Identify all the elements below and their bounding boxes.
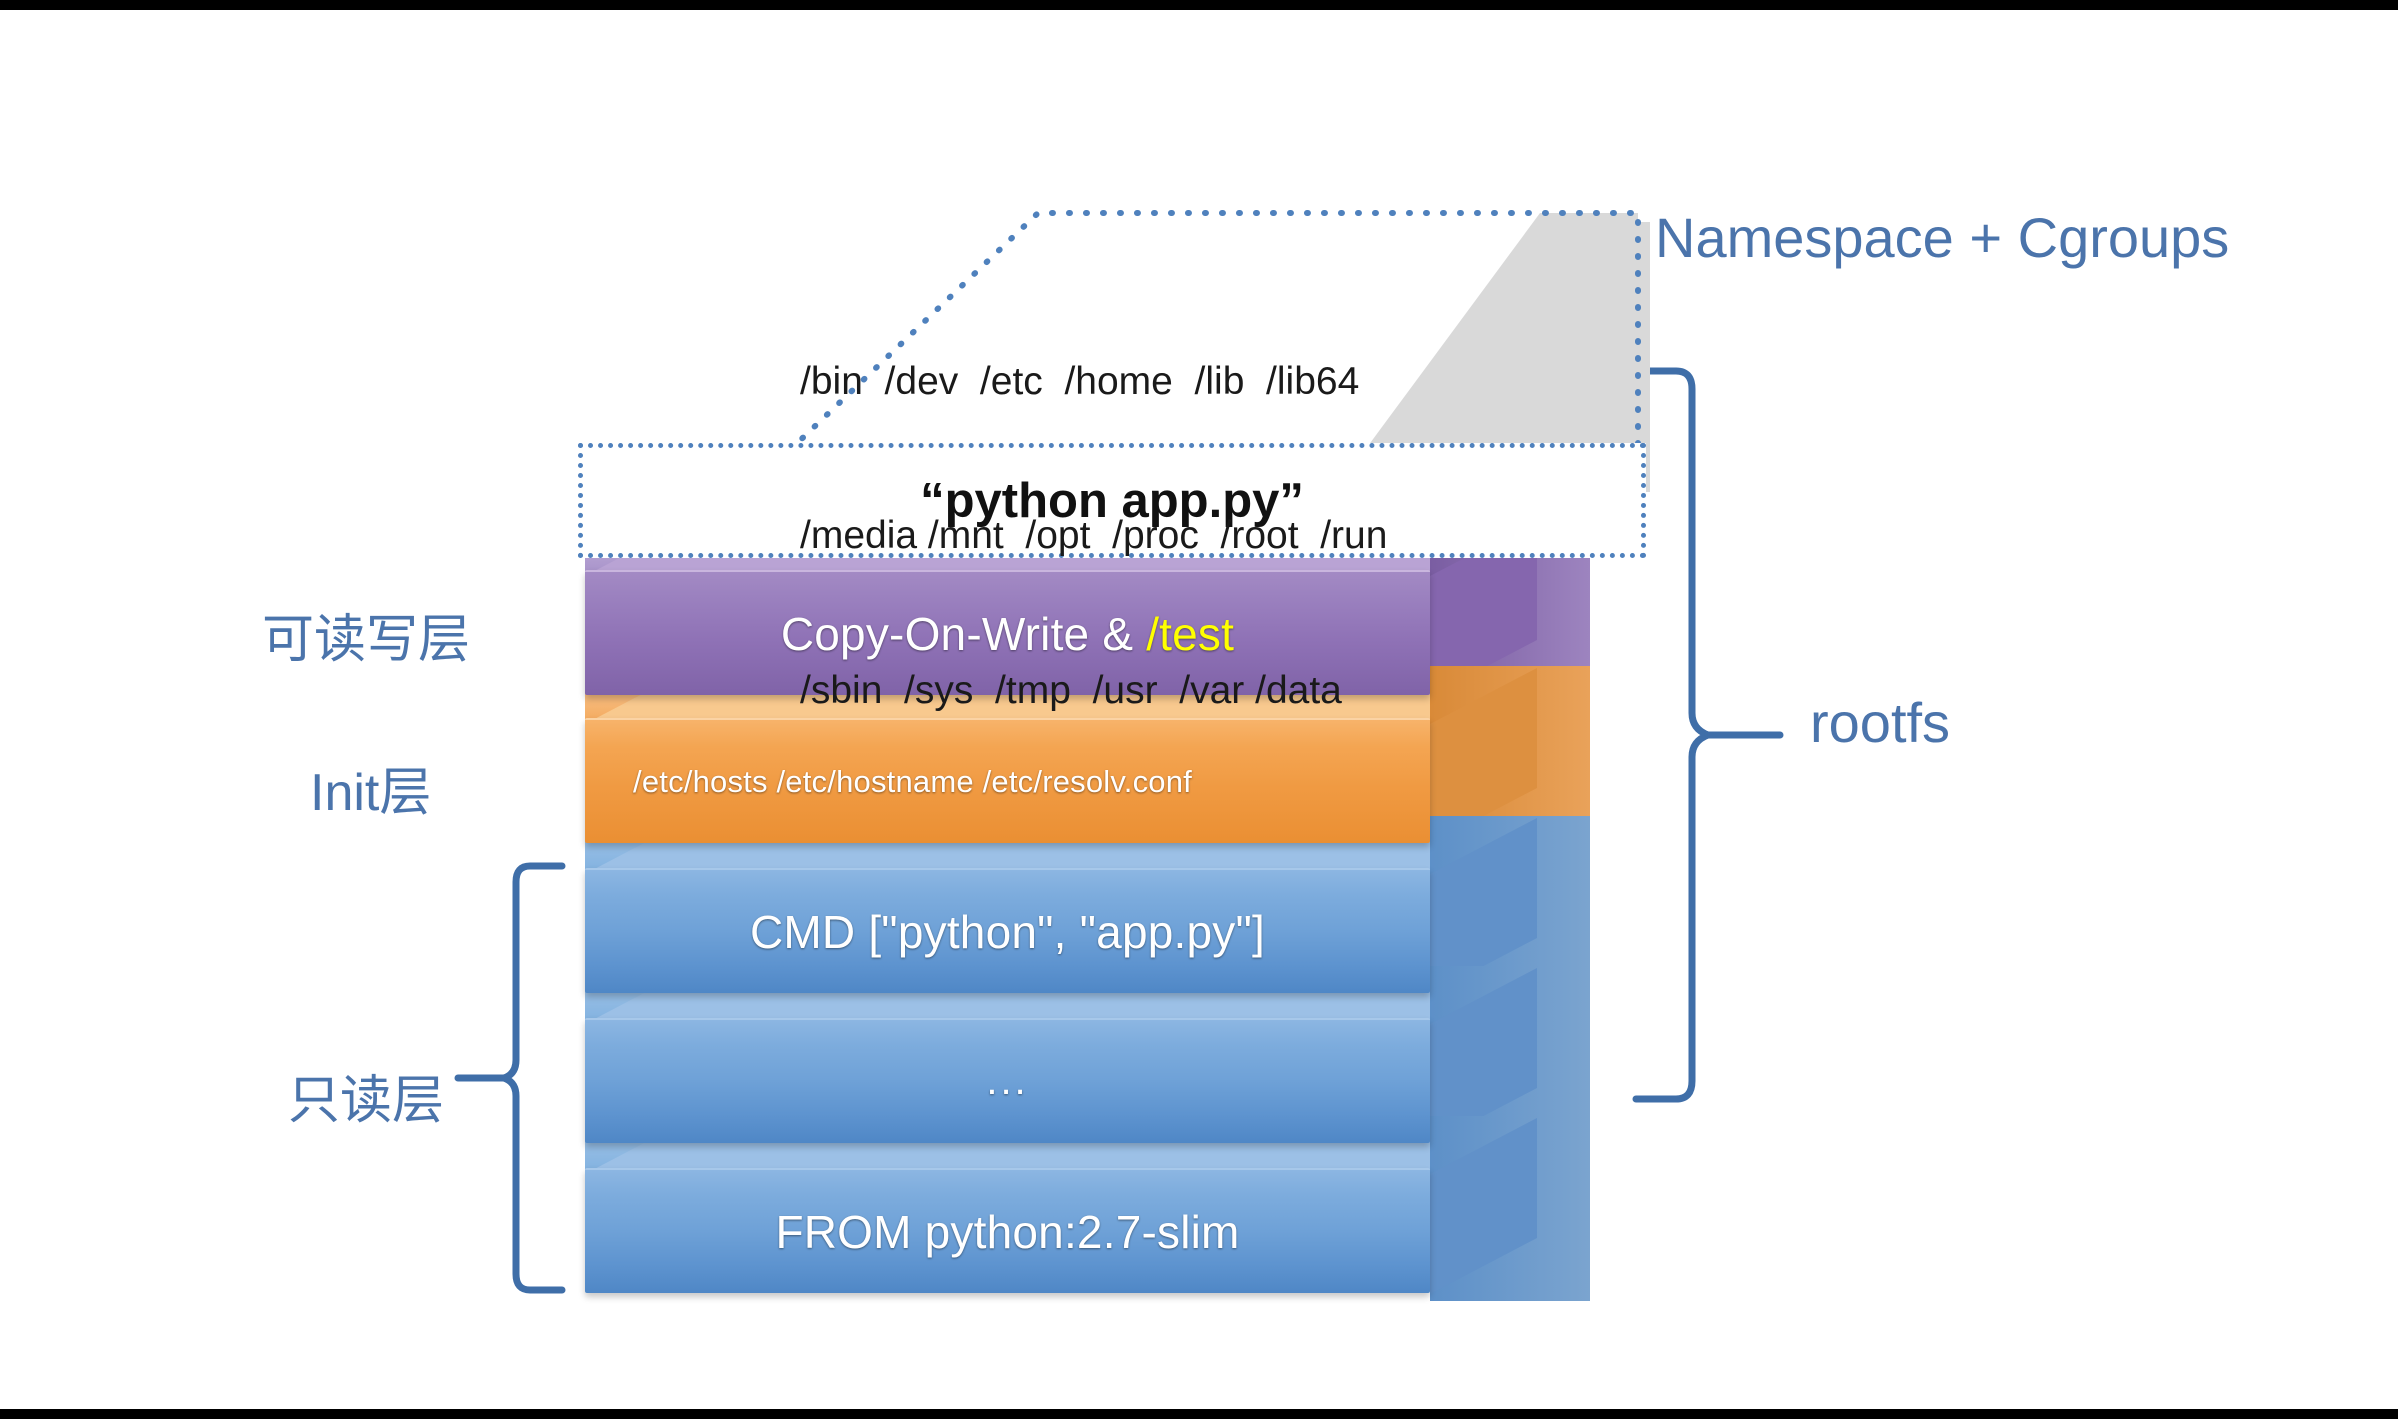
layer-from[interactable]: FROM python:2.7-slim <box>585 1168 1430 1293</box>
read-only-bracket <box>500 860 580 1300</box>
dir-line-1: /bin /dev /etc /home /lib /lib64 <box>800 356 1387 407</box>
namespace-directory-listing: /bin /dev /etc /home /lib /lib64 /media … <box>800 253 1387 819</box>
dir-line-2: /media /mnt /opt /proc /root /run <box>800 510 1387 561</box>
dir-line-3: /sbin /sys /tmp /usr /var /data <box>800 665 1387 716</box>
layer-label-cmd: CMD ["python", "app.py"] <box>750 905 1265 959</box>
letterbox-bottom <box>0 1409 2398 1419</box>
layer-front-face: FROM python:2.7-slim <box>585 1168 1430 1293</box>
layer-cmd[interactable]: CMD ["python", "app.py"] <box>585 868 1430 993</box>
label-namespace-cgroups: Namespace + Cgroups <box>1655 205 2229 270</box>
letterbox-top <box>0 0 2398 10</box>
layer-label-from: FROM python:2.7-slim <box>775 1205 1239 1259</box>
layer-front-face: CMD ["python", "app.py"] <box>585 868 1430 993</box>
layer-front-face: ... <box>585 1018 1430 1143</box>
layer-right-face <box>1430 1116 1590 1301</box>
layer-label-ellipsis: ... <box>986 1059 1028 1104</box>
label-init-layer: Init层 <box>310 750 431 825</box>
label-read-write-layer: 可读写层 <box>262 597 470 672</box>
layer-ellipsis[interactable]: ... <box>585 1018 1430 1143</box>
diagram-canvas: /bin /dev /etc /home /lib /lib64 /media … <box>0 0 2398 1419</box>
label-read-only-layer: 只读层 <box>288 1058 444 1133</box>
label-rootfs: rootfs <box>1810 690 1950 755</box>
